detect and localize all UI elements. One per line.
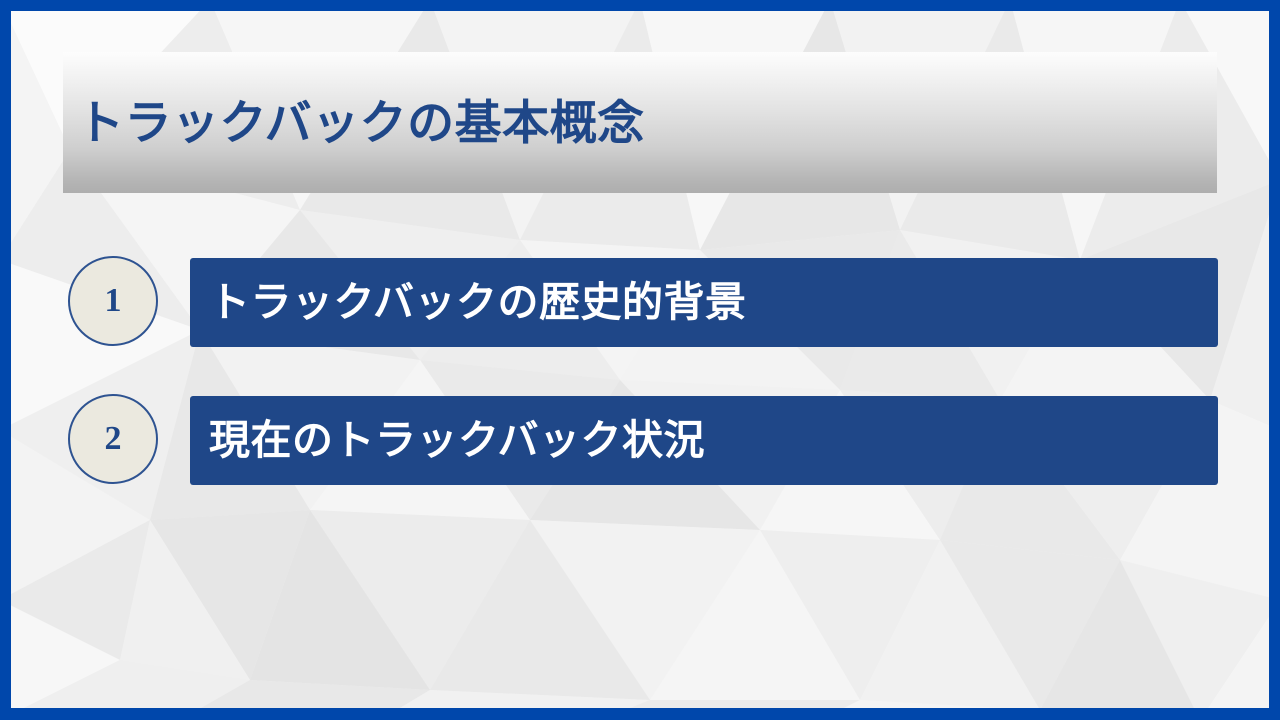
- item-number-badge-2: 2: [68, 394, 158, 484]
- slide-border-top: [0, 0, 1280, 11]
- item-number-badge-1: 1: [68, 256, 158, 346]
- item-label-1: トラックバックの歴史的背景: [209, 281, 746, 324]
- item-label-2: 現在のトラックバック状況: [209, 419, 705, 462]
- item-bar-1[interactable]: トラックバックの歴史的背景: [190, 258, 1218, 347]
- slide-border-bottom: [0, 708, 1280, 720]
- slide-border-right: [1269, 0, 1280, 720]
- page-title: トラックバックの基本概念: [77, 97, 645, 149]
- slide-title-band: トラックバックの基本概念: [63, 52, 1217, 193]
- agenda-item-1[interactable]: 1 トラックバックの歴史的背景: [63, 250, 1218, 354]
- slide-canvas: トラックバックの基本概念 1 トラックバックの歴史的背景 2 現在のトラックバッ…: [0, 0, 1280, 720]
- slide-border-left: [0, 0, 11, 720]
- item-number-1: 1: [105, 284, 122, 318]
- item-number-2: 2: [105, 422, 122, 456]
- item-bar-2[interactable]: 現在のトラックバック状況: [190, 396, 1218, 485]
- agenda-item-2[interactable]: 2 現在のトラックバック状況: [63, 388, 1218, 492]
